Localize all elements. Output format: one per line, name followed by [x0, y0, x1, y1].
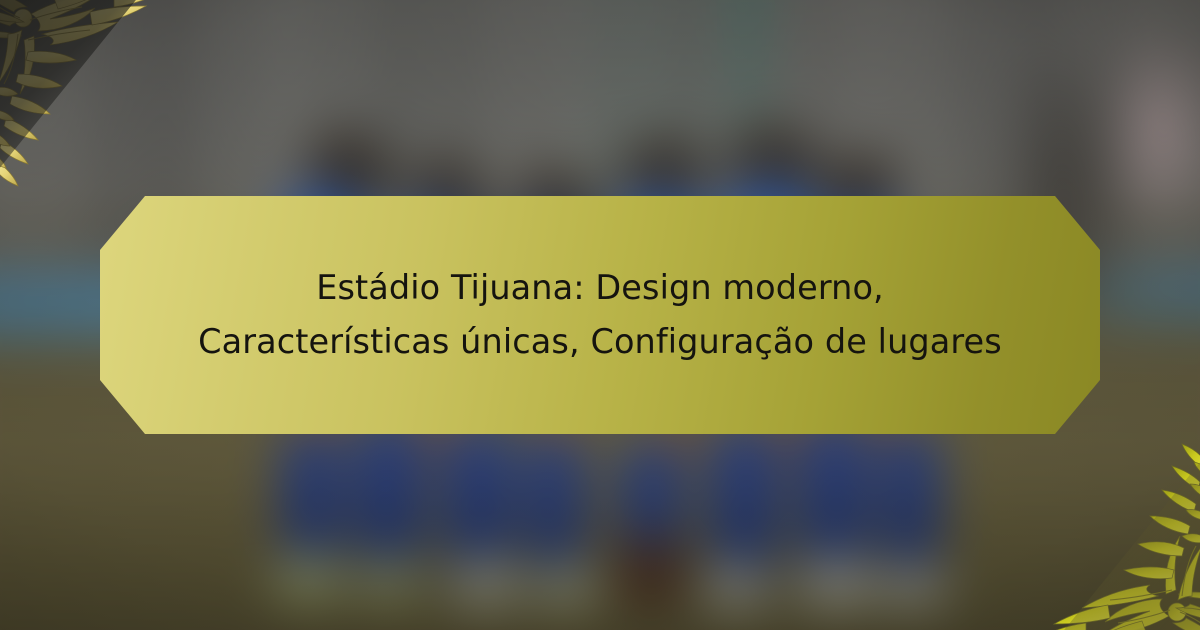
page-title: Estádio Tijuana: Design moderno, Caracte…	[100, 261, 1100, 370]
banner-canvas: Estádio Tijuana: Design moderno, Caracte…	[0, 0, 1200, 630]
title-banner: Estádio Tijuana: Design moderno, Caracte…	[100, 196, 1100, 434]
ornament-top-left	[0, 0, 162, 190]
ornament-bottom-right	[1038, 440, 1200, 630]
